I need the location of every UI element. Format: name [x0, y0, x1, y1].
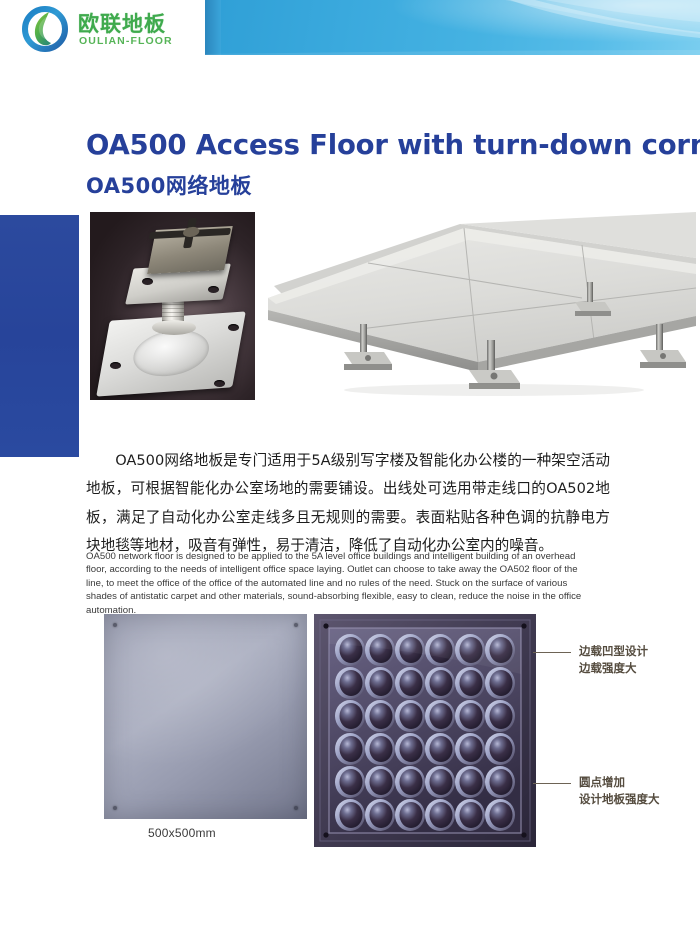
annotation-text: 圆点增加 设计地板强度大 — [579, 774, 660, 807]
brochure-page: 欧联地板 OULIAN-FLOOR OA500 Access Floor wit… — [0, 0, 700, 950]
mid-plate-hole — [142, 278, 153, 285]
pedestal-cross-head — [147, 216, 234, 250]
floor-panels-illustration — [264, 212, 696, 400]
page-title-chinese: OA500网络地板 — [86, 170, 686, 200]
panel-corner-dot — [294, 806, 298, 810]
header-banner — [205, 0, 700, 55]
mid-plate-hole — [208, 286, 219, 293]
base-plate-hole — [110, 362, 121, 369]
raised-access-floor-panels-photo — [264, 212, 696, 400]
annotation-text: 边载凹型设计 边载强度大 — [579, 643, 648, 676]
dimple-grid-illustration — [314, 614, 536, 847]
panel-corner-dot — [113, 806, 117, 810]
panel-corner-dot — [294, 623, 298, 627]
brand-name-en: OULIAN-FLOOR — [79, 35, 173, 47]
description-paragraph-english: OA500 network floor is designed to be ap… — [86, 550, 592, 618]
annotation-line-2: 设计地板强度大 — [579, 792, 660, 806]
page-header: 欧联地板 OULIAN-FLOOR — [0, 0, 700, 58]
banner-swoosh-decoration — [205, 0, 700, 55]
description-paragraph-chinese: OA500网络地板是专门适用于5A级别写字楼及智能化办公楼的一种架空活动地板，可… — [86, 447, 610, 561]
brand-name-cn: 欧联地板 — [78, 8, 166, 38]
leader-line — [533, 652, 571, 653]
annotation-line-1: 圆点增加 — [579, 775, 625, 789]
annotation-line-2: 边载强度大 — [579, 661, 637, 675]
panel-size-caption: 500x500mm — [148, 826, 216, 840]
left-accent-bar — [0, 215, 79, 457]
base-plate-hole — [228, 324, 239, 331]
floor-panel-top-surface-photo — [104, 614, 307, 819]
page-title-english: OA500 Access Floor with turn-down corner… — [86, 130, 686, 160]
annotation-line-1: 边载凹型设计 — [579, 644, 648, 658]
floor-panel-underside-dimple-photo — [314, 614, 536, 847]
base-plate-hole — [214, 380, 225, 387]
panel-corner-dot — [113, 623, 117, 627]
leader-line — [533, 783, 571, 784]
oulian-leaf-logo-icon — [22, 6, 68, 52]
pedestal-collar — [152, 320, 196, 335]
pedestal-support-assembly-photo — [90, 212, 255, 400]
brand-logo-group: 欧联地板 OULIAN-FLOOR — [22, 5, 202, 55]
